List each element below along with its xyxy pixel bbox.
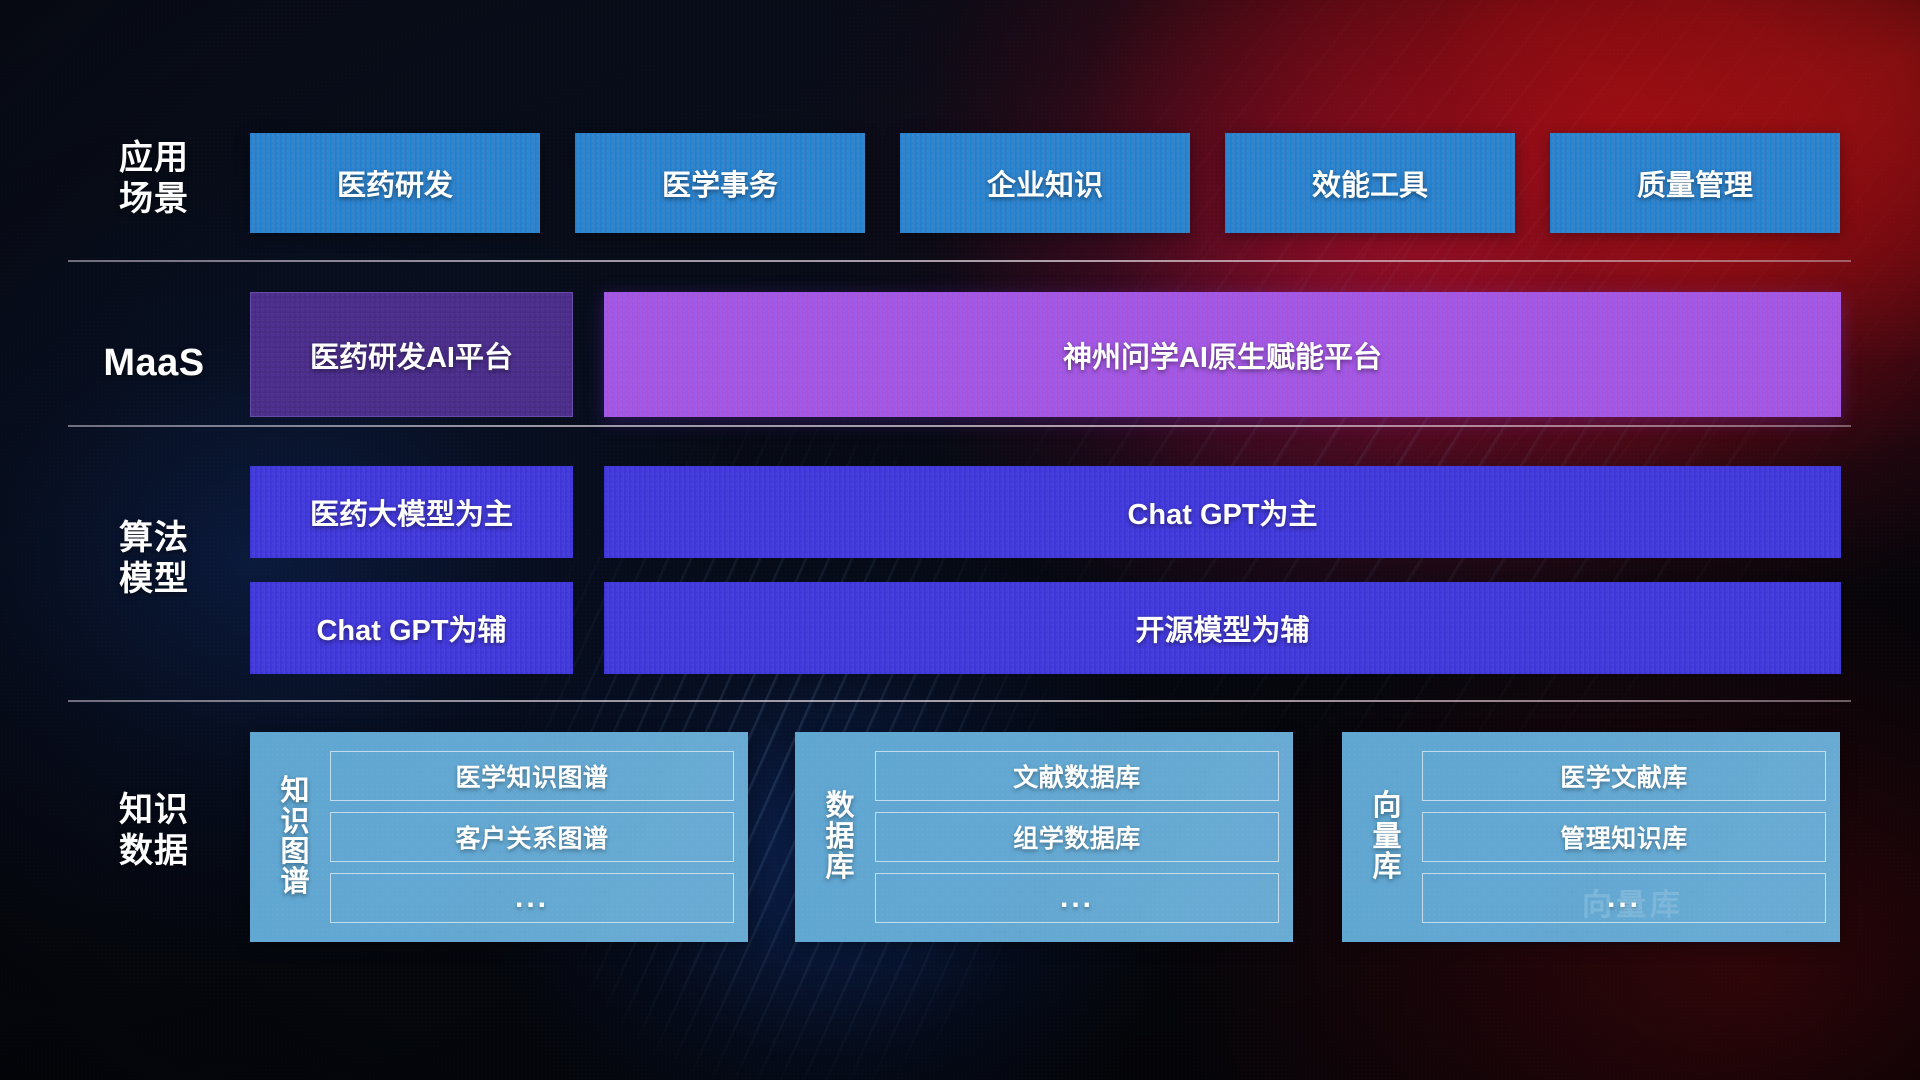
knowledge-panel-title: 向 量 库: [1358, 791, 1416, 882]
knowledge-panel-vector-store[interactable]: 向 量 库 医学文献库 管理知识库 ... 向量库: [1342, 732, 1840, 942]
knowledge-panel-title-char: 数: [811, 791, 869, 821]
maas-card-label: 医药研发AI平台: [310, 334, 513, 376]
knowledge-panel-title: 数 据 库: [811, 791, 869, 882]
knowledge-panel-title-char: 据: [811, 822, 869, 852]
row-label-maas: MaaS: [88, 340, 220, 386]
algo-card-label: Chat GPT为主: [1127, 491, 1317, 533]
app-card-yixue-shiwu[interactable]: 医学事务: [575, 133, 865, 233]
row-label-application-line1: 应用: [88, 138, 220, 179]
knowledge-panel-title-char: 图: [266, 837, 324, 867]
row-label-algorithm-line1: 算法: [88, 518, 220, 559]
knowledge-panel-item-more[interactable]: ...: [330, 873, 734, 923]
knowledge-panel-title-char: 库: [811, 852, 869, 882]
row-label-algorithm-line2: 模型: [88, 559, 220, 600]
algo-card-label: 医药大模型为主: [310, 491, 513, 533]
knowledge-panel-database[interactable]: 数 据 库 文献数据库 组学数据库 ...: [795, 732, 1293, 942]
maas-card-shenzhou-wenxue-platform[interactable]: 神州问学AI原生赋能平台: [604, 292, 1841, 417]
knowledge-panel-title-char: 识: [266, 807, 324, 837]
knowledge-panel-item[interactable]: 医学文献库: [1422, 751, 1826, 801]
knowledge-panel-item-list: 医学知识图谱 客户关系图谱 ...: [330, 751, 734, 923]
divider-algorithm-knowledge: [68, 700, 1851, 702]
app-card-label: 医药研发: [337, 162, 453, 204]
knowledge-panel-title-char: 向: [1358, 791, 1416, 821]
knowledge-panel-item-more[interactable]: ...: [875, 873, 1279, 923]
knowledge-panel-item[interactable]: 客户关系图谱: [330, 812, 734, 862]
knowledge-panel-title: 知 识 图 谱: [266, 776, 324, 898]
algo-card-label: Chat GPT为辅: [316, 607, 506, 649]
algo-card-open-source-aux[interactable]: 开源模型为辅: [604, 582, 1841, 674]
app-card-label: 效能工具: [1312, 162, 1428, 204]
knowledge-panel-title-char: 谱: [266, 867, 324, 897]
knowledge-panel-item-list: 文献数据库 组学数据库 ...: [875, 751, 1279, 923]
row-label-application: 应用 场景: [88, 138, 220, 221]
knowledge-panel-item[interactable]: 组学数据库: [875, 812, 1279, 862]
maas-card-yiyao-yanfa-ai-platform[interactable]: 医药研发AI平台: [250, 292, 573, 417]
app-card-label: 质量管理: [1637, 162, 1753, 204]
algo-card-yiyao-damoxing-main[interactable]: 医药大模型为主: [250, 466, 573, 558]
knowledge-panel-item-more[interactable]: ...: [1422, 873, 1826, 923]
row-label-knowledge-line1: 知识: [88, 790, 220, 831]
knowledge-panel-item[interactable]: 管理知识库: [1422, 812, 1826, 862]
divider-maas-algorithm: [68, 425, 1851, 427]
app-card-zhiliang-guanli[interactable]: 质量管理: [1550, 133, 1840, 233]
app-card-xiaoneng-gongju[interactable]: 效能工具: [1225, 133, 1515, 233]
slide-canvas: 应用 场景 医药研发 医学事务 企业知识 效能工具 质量管理 MaaS 医药研发…: [0, 0, 1920, 1080]
row-label-application-line2: 场景: [88, 179, 220, 220]
knowledge-panel-item[interactable]: 医学知识图谱: [330, 751, 734, 801]
knowledge-panel-knowledge-graph[interactable]: 知 识 图 谱 医学知识图谱 客户关系图谱 ...: [250, 732, 748, 942]
knowledge-panel-title-char: 知: [266, 776, 324, 806]
algo-card-chatgpt-aux[interactable]: Chat GPT为辅: [250, 582, 573, 674]
knowledge-panel-item[interactable]: 文献数据库: [875, 751, 1279, 801]
app-card-label: 企业知识: [987, 162, 1103, 204]
row-label-knowledge-line2: 数据: [88, 831, 220, 872]
knowledge-panel-title-char: 库: [1358, 852, 1416, 882]
knowledge-panel-item-list: 医学文献库 管理知识库 ...: [1422, 751, 1826, 923]
row-label-knowledge: 知识 数据: [88, 790, 220, 873]
knowledge-panel-title-char: 量: [1358, 822, 1416, 852]
app-card-qiye-zhishi[interactable]: 企业知识: [900, 133, 1190, 233]
algo-card-label: 开源模型为辅: [1135, 607, 1309, 649]
app-card-label: 医学事务: [662, 162, 778, 204]
maas-card-label: 神州问学AI原生赋能平台: [1063, 334, 1382, 376]
row-label-maas-text: MaaS: [88, 340, 220, 386]
divider-application-maas: [68, 260, 1851, 262]
row-label-algorithm: 算法 模型: [88, 518, 220, 601]
app-card-yiyao-yanfa[interactable]: 医药研发: [250, 133, 540, 233]
algo-card-chatgpt-main[interactable]: Chat GPT为主: [604, 466, 1841, 558]
